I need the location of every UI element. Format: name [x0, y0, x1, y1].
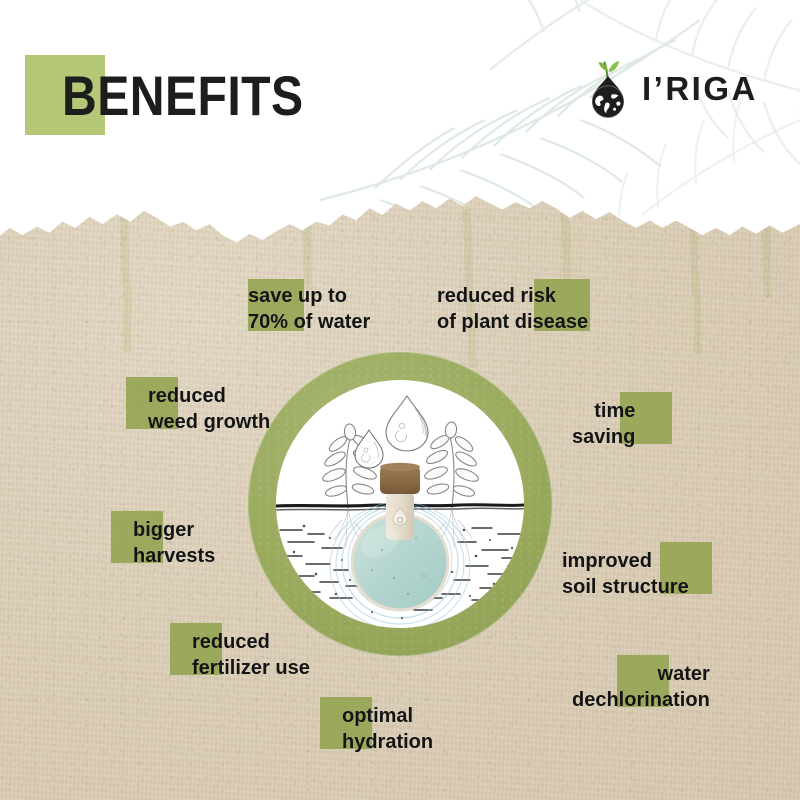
benefits-infographic: BENEFITS — [0, 0, 800, 800]
benefit-label-optimal-hydration[interactable]: optimalhydration — [342, 703, 433, 755]
header: BENEFITS — [0, 0, 800, 215]
page-title: BENEFITS — [62, 60, 304, 132]
benefit-text: reducedfertilizer use — [192, 629, 310, 681]
benefit-text: improvedsoil structure — [562, 548, 689, 600]
benefit-text: timesaving — [572, 398, 635, 450]
benefit-label-reduced-risk[interactable]: reduced riskof plant disease — [437, 283, 588, 335]
benefit-text: waterdechlorination — [572, 661, 710, 713]
benefit-text: optimalhydration — [342, 703, 433, 755]
benefit-label-reduced-fertilizer[interactable]: reducedfertilizer use — [192, 629, 310, 681]
brand-logo[interactable]: I’RIGA — [580, 58, 770, 120]
benefit-text: save up to70% of water — [248, 283, 370, 335]
benefit-label-bigger-harvests[interactable]: biggerharvests — [133, 517, 215, 569]
droplet-globe-sprout-icon — [580, 58, 636, 120]
benefit-label-improved-soil[interactable]: improvedsoil structure — [562, 548, 689, 600]
benefit-label-time-saving[interactable]: timesaving — [572, 398, 635, 450]
benefit-text: biggerharvests — [133, 517, 215, 569]
benefit-label-reduced-weed[interactable]: reducedweed growth — [148, 383, 270, 435]
medallion-disc — [276, 380, 524, 628]
benefit-text: reducedweed growth — [148, 383, 270, 435]
benefit-label-save-water[interactable]: save up to70% of water — [248, 283, 370, 335]
irrigation-illustration — [248, 352, 552, 656]
brand-wordmark: I’RIGA — [642, 70, 758, 108]
benefit-text: reduced riskof plant disease — [437, 283, 588, 335]
benefit-label-water-dechlorination[interactable]: waterdechlorination — [572, 661, 710, 713]
